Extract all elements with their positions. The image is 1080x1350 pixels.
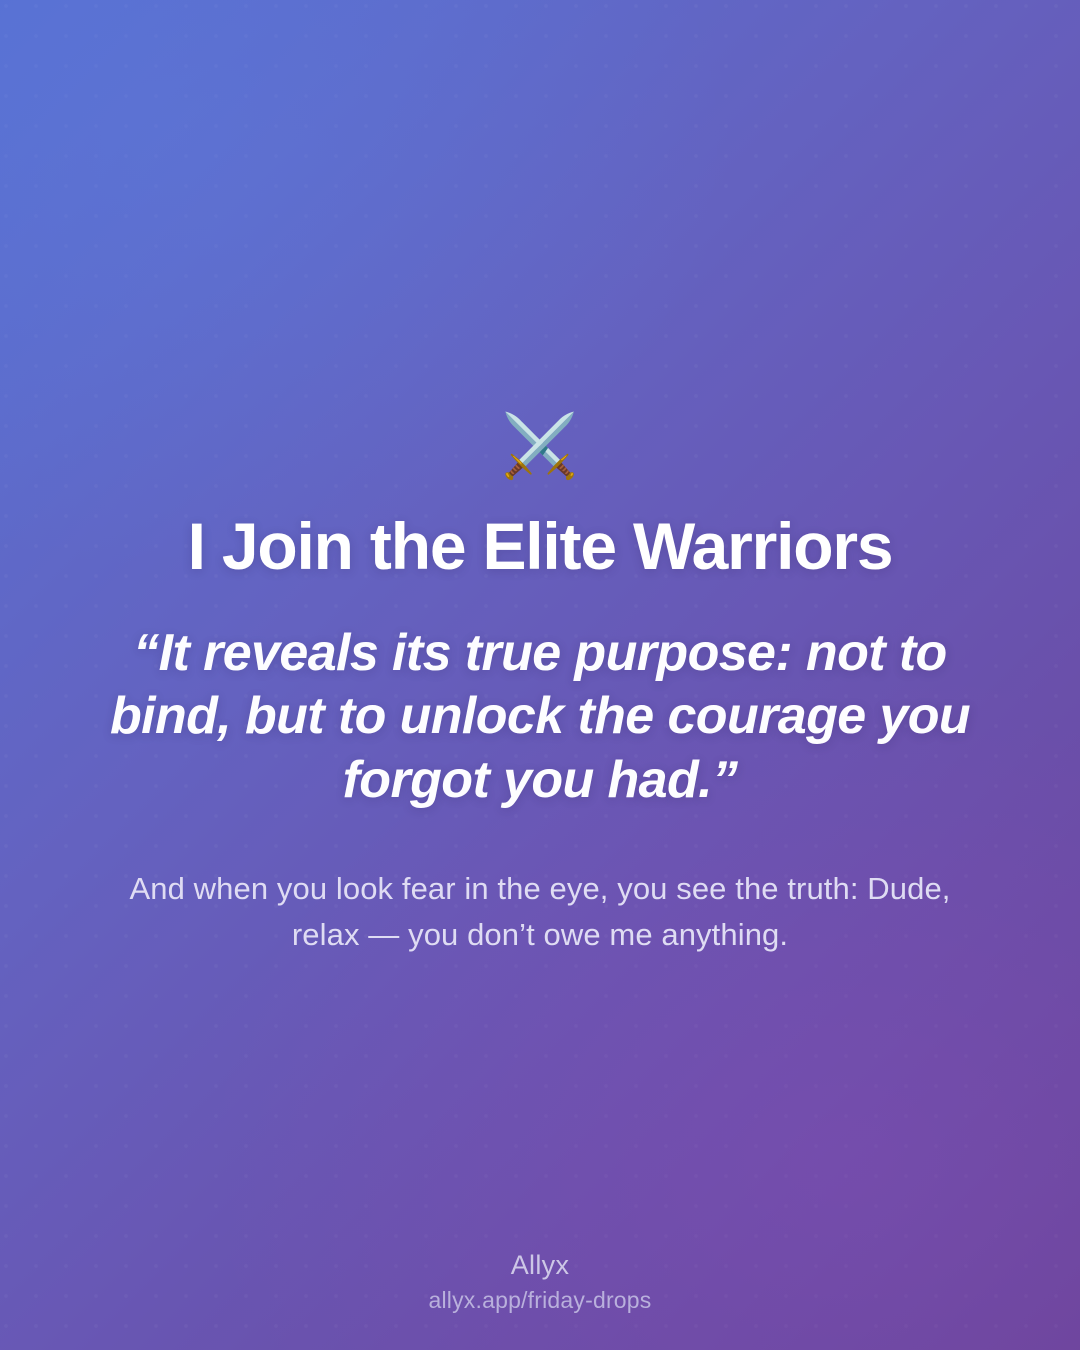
- card-footer: Allyx allyx.app/friday-drops: [0, 1250, 1080, 1314]
- page-title: I Join the Elite Warriors: [90, 512, 990, 582]
- footer-url[interactable]: allyx.app/friday-drops: [428, 1287, 651, 1314]
- subtext-body: And when you look fear in the eye, you s…: [110, 866, 970, 958]
- quote-card: ⚔️ I Join the Elite Warriors “It reveals…: [0, 0, 1080, 1350]
- crossed-swords-icon: ⚔️: [501, 412, 578, 482]
- footer-brand-name: Allyx: [511, 1250, 570, 1281]
- card-content: ⚔️ I Join the Elite Warriors “It reveals…: [0, 0, 1080, 1350]
- quote-text: “It reveals its true purpose: not to bin…: [105, 622, 975, 812]
